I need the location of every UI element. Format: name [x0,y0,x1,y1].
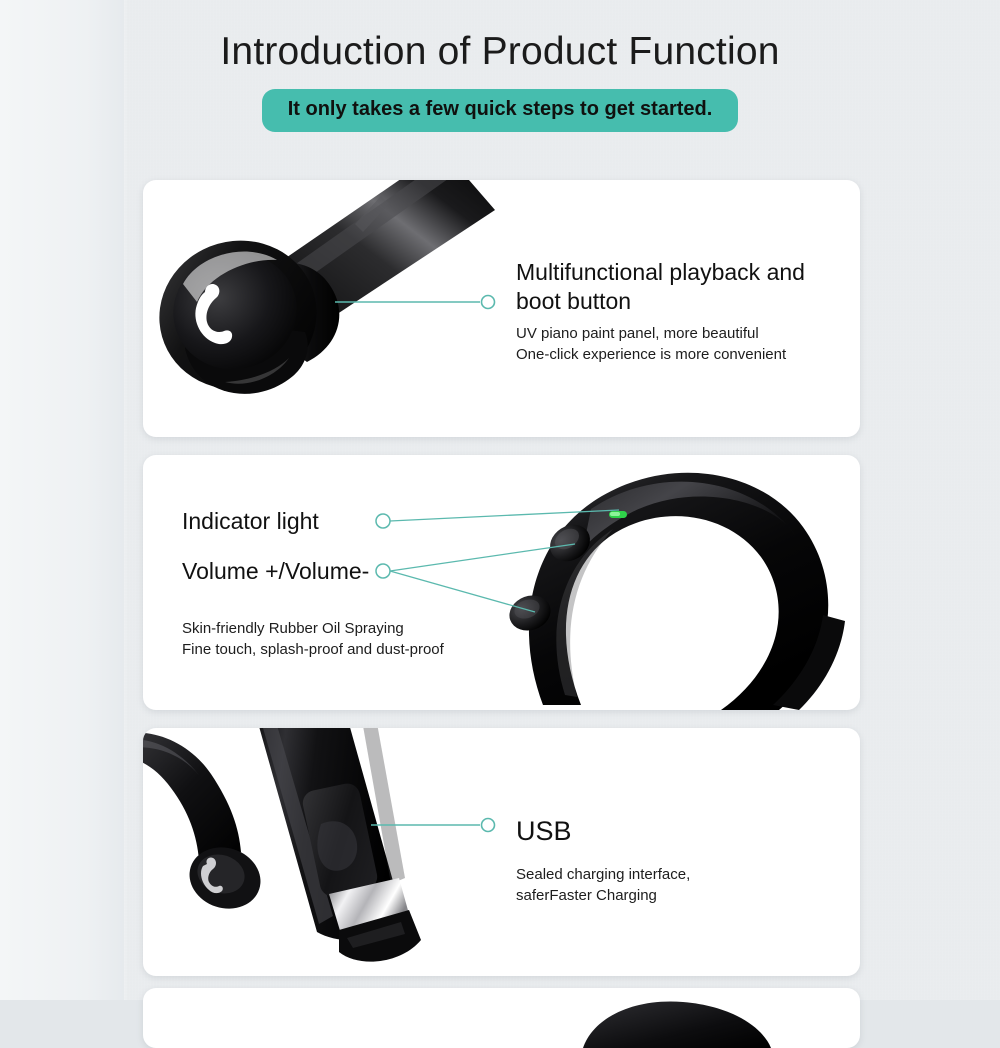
callout-heading-volume: Volume +/Volume- [182,557,369,586]
card-description-rubber-oil: Skin-friendly Rubber Oil Spraying Fine t… [182,618,522,661]
next-card-product-image [523,988,860,1048]
feature-card-playback-button: Multifunctional playback and boot button… [143,180,860,437]
callout-heading-playback: Multifunctional playback and boot button [516,258,846,317]
feature-card-indicator-volume: Indicator light Volume +/Volume- Skin-fr… [143,455,860,710]
callout-description-playback: UV piano paint panel, more beautiful One… [516,323,846,366]
page-title: Introduction of Product Function [0,0,1000,74]
callout-heading-usb: USB [516,814,572,849]
circle-marker [376,564,390,578]
callout-heading-indicator-light: Indicator light [182,507,319,536]
feature-card-next-partial [143,988,860,1048]
feature-card-usb: USB Sealed charging interface, saferFast… [143,728,860,976]
usb-port-product-image [143,728,503,976]
earbud-product-image [143,180,503,437]
circle-marker [376,514,390,528]
page-header: Introduction of Product Function It only… [0,0,1000,132]
callout-description-usb: Sealed charging interface, saferFaster C… [516,864,846,907]
subtitle-pill: It only takes a few quick steps to get s… [262,89,739,132]
left-background-band [0,0,124,1000]
earhook-product-image [473,455,860,710]
